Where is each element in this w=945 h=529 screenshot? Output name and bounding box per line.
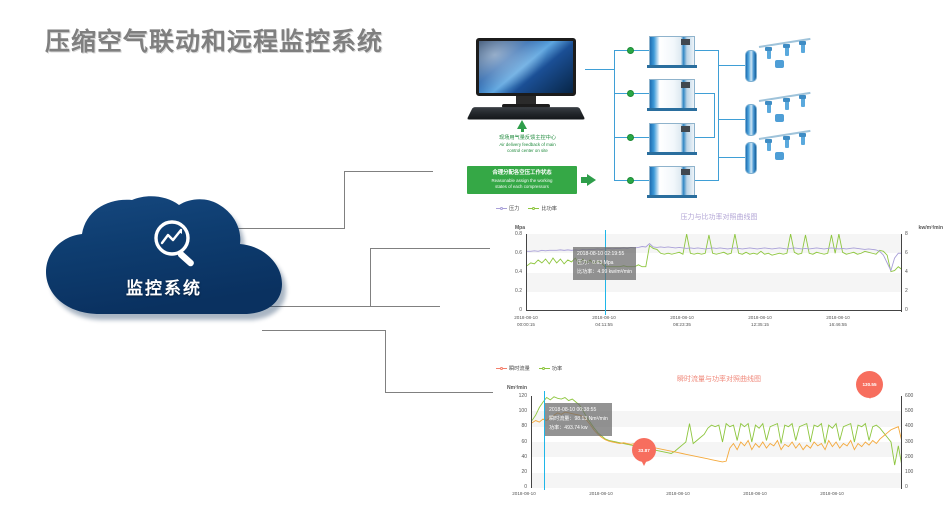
chart1-ytick-2: 0.4: [504, 269, 522, 275]
connector-line-3c: [385, 392, 493, 394]
monitor-stand: [516, 96, 536, 104]
chart2-ytick-r-5: 100: [905, 469, 923, 475]
chart1-title: 压力与比功率对照曲线图: [493, 212, 945, 222]
chart1-xtick-0: 2018-08-10 00:00:15: [503, 315, 549, 328]
xtick-time: 08:23:35: [659, 322, 705, 329]
air-tool-head-1c: [799, 41, 806, 45]
xtick-date: 2018-08-10: [815, 315, 861, 322]
green-arrow-icon: [587, 174, 596, 186]
chart1-ytick-r-2: 4: [905, 269, 923, 275]
chart2-tooltip: 2018-08-10 00:38:55 瞬时流量：98.13 Nm³/min 功…: [545, 403, 612, 436]
chart2-ytick-r-3: 300: [905, 439, 923, 445]
chart2-max-marker[interactable]: 130.55: [856, 371, 883, 398]
chart1-ytick-r-3: 2: [905, 288, 923, 294]
chart2-ytick-r-4: 200: [905, 454, 923, 460]
connector-line-1b: [344, 171, 346, 229]
air-tool-head-3a: [765, 139, 772, 143]
legend-marker-icon: [528, 206, 539, 211]
chart1-legend-item-1[interactable]: 比功率: [528, 205, 557, 212]
compressor-foot: [647, 108, 697, 111]
compressor-panel: [681, 169, 690, 175]
chart2-tooltip-timestamp: 2018-08-10 00:38:55: [549, 406, 608, 415]
pipe-out-4: [695, 180, 719, 181]
xtick-date: 2018-08-10: [503, 315, 549, 322]
compressor-panel: [681, 39, 690, 45]
chart2-ytick-0: 120: [509, 393, 527, 399]
chart2-ytick-r-1: 500: [905, 408, 923, 414]
chart2-ytick-4: 40: [509, 454, 527, 460]
chart2-ytick-r-6: 0: [905, 484, 923, 490]
chart1-legend[interactable]: 压力 比功率: [496, 205, 557, 212]
assign-status-en-line2: states of each compressors: [467, 184, 577, 190]
air-machine-2: [775, 114, 784, 122]
chart2-ytick-6: 0: [509, 484, 527, 490]
chart2-ytick-3: 60: [509, 439, 527, 445]
legend-marker-icon: [496, 206, 507, 211]
assign-status-cn: 合理分配各空压工作状态: [467, 169, 577, 178]
compressor-3: [649, 121, 695, 155]
chart1-tooltip-row2: 比功率：4.99 kw/m³/min: [577, 268, 632, 277]
xtick-time: 16:46:55: [815, 322, 861, 329]
air-tool-head-2b: [783, 98, 790, 102]
pipe-to-tank-3: [718, 157, 746, 158]
desktop-monitor-icon: [470, 38, 585, 118]
pipe-out-1: [695, 50, 719, 51]
pipe-to-tank-2: [718, 119, 746, 120]
chart2-xtick-3: 2018-08-10: [732, 491, 778, 498]
chart1-ytick-r-0: 8: [905, 231, 923, 237]
chart1-tooltip-timestamp: 2018-08-10 02:19:55: [577, 250, 632, 259]
chart2-ytick-1: 100: [509, 408, 527, 414]
flow-power-chart[interactable]: 瞬时流量 功率 瞬时流量与功率对照曲线图 Nm³/min 120 100 80 …: [493, 363, 945, 529]
system-architecture-diagram: 现场用气量反馈主控中心 Air delivery feedback of mai…: [445, 22, 945, 207]
slide-canvas: 压缩空气联动和远程监控系统: [0, 0, 945, 529]
chart2-legend-item-1[interactable]: 功率: [539, 365, 562, 372]
pressure-specific-power-chart[interactable]: 压力 比功率 压力与比功率对照曲线图 Mpa kw/m³/min 0.8 0.6…: [493, 203, 945, 335]
chart2-ylabel-left: Nm³/min: [507, 385, 527, 391]
compressor-panel: [681, 126, 690, 132]
chart1-ytick-3: 0.2: [504, 288, 522, 294]
node-dot-1: [627, 47, 634, 54]
monitoring-cloud[interactable]: 监控系统: [38, 196, 290, 324]
xtick-date: 2018-08-10: [581, 315, 627, 322]
chart1-legend-item-0[interactable]: 压力: [496, 205, 519, 212]
chart1-tooltip-row1: 压力：0.63 Mpa: [577, 259, 632, 268]
chart2-ytick-2: 80: [509, 423, 527, 429]
monitor-caption-en-line2: control center on site: [455, 148, 600, 154]
air-tank-2: [745, 104, 757, 136]
node-dot-2: [627, 90, 634, 97]
pipe-vertical-bus-left: [614, 50, 615, 181]
connector-line-2c: [370, 248, 490, 250]
xtick-date: 2018-08-10: [659, 315, 705, 322]
air-tool-head-3c: [799, 133, 806, 137]
chart1-legend-label-1: 比功率: [541, 205, 557, 212]
compressor-4: [649, 164, 695, 198]
chart2-ytick-r-0: 600: [905, 393, 923, 399]
chart2-max-marker-label: 130.55: [862, 382, 876, 387]
node-dot-4: [627, 177, 634, 184]
chart2-xtick-4: 2018-08-10: [809, 491, 855, 498]
pipe-collector-vertical: [718, 50, 719, 181]
chart1-xtick-3: 2018-08-10 12:35:15: [737, 315, 783, 328]
legend-marker-icon: [496, 366, 507, 371]
pipe-out-2: [695, 93, 715, 94]
air-tool-head-3b: [783, 136, 790, 140]
chart2-legend-label-1: 功率: [552, 365, 562, 372]
xtick-time: 12:35:15: [737, 322, 783, 329]
chart1-ytick-4: 0: [504, 307, 522, 313]
chart2-xtick-1: 2018-08-10: [578, 491, 624, 498]
pipe-out-3: [695, 137, 715, 138]
air-machine-3: [775, 152, 784, 160]
chart1-ytick-r-1: 6: [905, 250, 923, 256]
chart1-xtick-2: 2018-08-10 08:23:35: [659, 315, 705, 328]
compressor-foot: [647, 65, 697, 68]
chart2-legend-label-0: 瞬时流量: [509, 365, 530, 372]
connector-line-1c: [344, 171, 433, 173]
node-dot-3: [627, 134, 634, 141]
air-tank-1: [745, 50, 757, 82]
monitor-screen: [476, 38, 576, 96]
air-tank-3: [745, 142, 757, 174]
chart1-xtick-4: 2018-08-10 16:46:55: [815, 315, 861, 328]
chart2-tooltip-row2: 功率：493.74 kw: [549, 424, 608, 433]
chart1-ytick-r-4: 0: [905, 307, 923, 313]
assign-status-box: 合理分配各空压工作状态 Reasonable assign the workin…: [467, 166, 577, 194]
chart1-ytick-1: 0.6: [504, 250, 522, 256]
chart1-legend-label-0: 压力: [509, 205, 519, 212]
connector-line-3b: [385, 330, 387, 393]
monitor-caption-en: Air delivery feedback of main control ce…: [455, 142, 600, 155]
chart2-min-marker-label: 33.87: [638, 448, 650, 453]
legend-marker-icon: [539, 366, 550, 371]
chart2-legend-item-0[interactable]: 瞬时流量: [496, 365, 530, 372]
cloud-label: 监控系统: [38, 274, 290, 299]
chart2-right-axis: [901, 396, 902, 489]
compressor-panel: [681, 82, 690, 88]
chart1-xtick-1: 2018-08-10 04:11:55: [581, 315, 627, 328]
chart2-legend[interactable]: 瞬时流量 功率: [496, 365, 562, 372]
compressor-foot: [647, 152, 697, 155]
up-arrow-stem: [521, 128, 524, 132]
air-tool-head-1a: [765, 47, 772, 51]
monitor-gloss: [476, 38, 568, 96]
chart2-ytick-r-2: 400: [905, 423, 923, 429]
xtick-time: 04:11:55: [581, 322, 627, 329]
page-title: 压缩空气联动和远程监控系统: [45, 22, 383, 58]
pipe-monitor-to-bus: [585, 69, 615, 70]
pipe-to-tank-1: [718, 65, 746, 66]
pipe-collector-inner: [714, 93, 715, 138]
chart2-ytick-5: 20: [509, 469, 527, 475]
compressor-1: [649, 34, 695, 68]
xtick-date: 2018-08-10: [737, 315, 783, 322]
chart1-ytick-0: 0.8: [504, 231, 522, 237]
keyboard-icon: [467, 107, 585, 119]
air-machine-1: [775, 60, 784, 68]
chart2-xtick-2: 2018-08-10: [655, 491, 701, 498]
chart2-xtick-0: 2018-08-10: [501, 491, 547, 498]
chart1-tooltip: 2018-08-10 02:19:55 压力：0.63 Mpa 比功率：4.99…: [573, 247, 636, 280]
chart2-tooltip-row1: 瞬时流量：98.13 Nm³/min: [549, 415, 608, 424]
magnifier-chart-icon: [148, 218, 206, 270]
air-tool-head-1b: [783, 44, 790, 48]
connector-line-3: [262, 330, 386, 332]
chart2-min-marker[interactable]: 33.87: [632, 438, 656, 462]
compressor-foot: [647, 195, 697, 198]
air-tool-head-2c: [799, 95, 806, 99]
chart1-right-axis: [901, 234, 902, 312]
connector-line-2b: [370, 248, 372, 307]
compressor-2: [649, 77, 695, 111]
xtick-time: 00:00:15: [503, 322, 549, 329]
air-tool-head-2a: [765, 101, 772, 105]
